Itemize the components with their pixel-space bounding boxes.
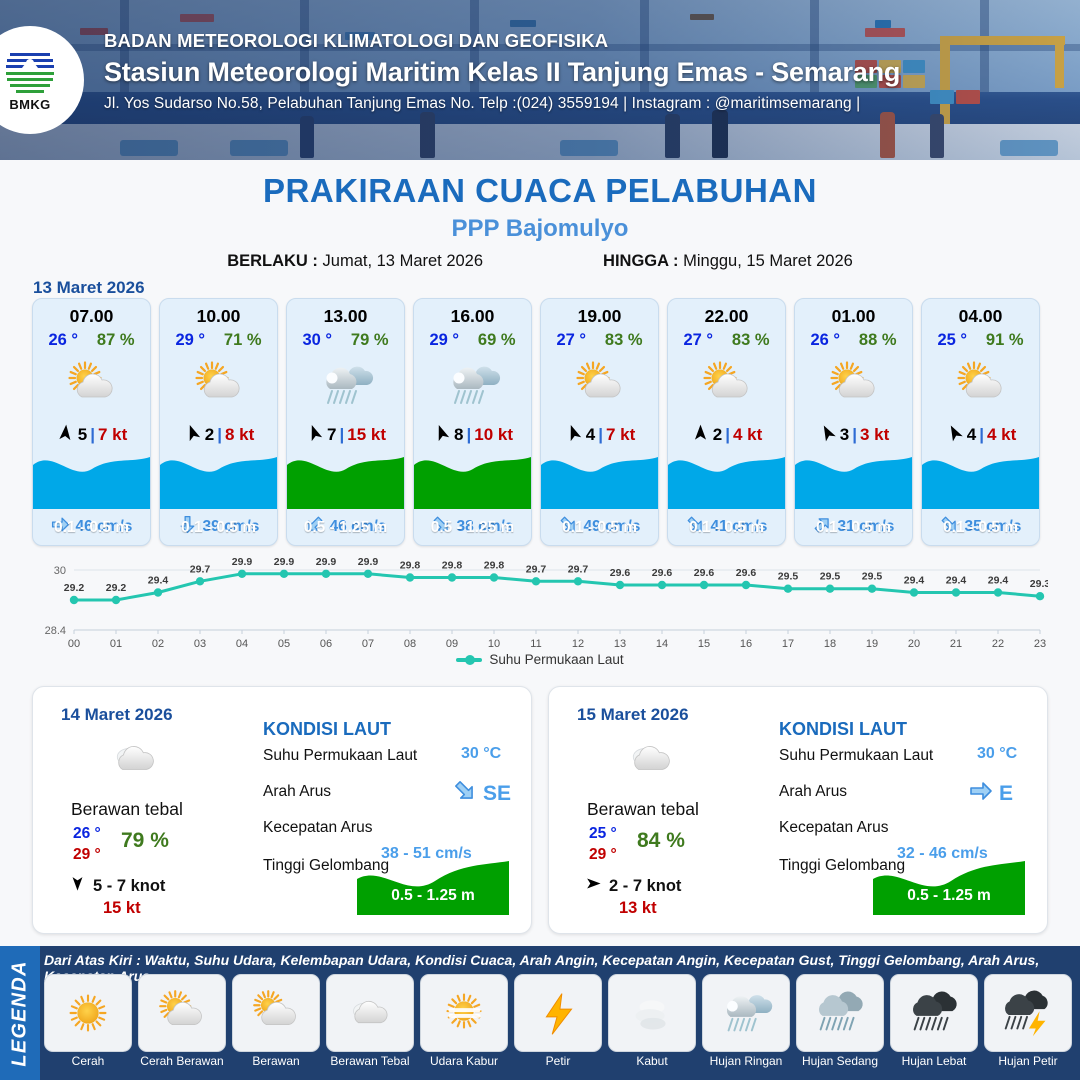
card-wind-gust: 8 kt <box>225 425 254 445</box>
bmkg-logo-icon <box>4 48 56 96</box>
berawan-tebal-icon <box>326 974 414 1052</box>
svg-text:29.4: 29.4 <box>148 575 169 587</box>
card-wave <box>541 447 658 509</box>
day-wind-range: 2 - 7 knot <box>609 877 681 896</box>
cerah-berawan-icon <box>922 355 1039 415</box>
wind-direction-arrow-icon <box>564 423 583 447</box>
card-wave <box>33 447 150 509</box>
legend-item-list: Cerah Cerah Berawan Berawan Berawan Teba… <box>44 974 1076 1078</box>
card-wind-gust: 7 kt <box>98 425 127 445</box>
card-wave <box>160 447 277 509</box>
svg-text:29.8: 29.8 <box>484 560 505 572</box>
card-temp-humidity: 26 °88 % <box>795 331 912 350</box>
svg-text:29.4: 29.4 <box>904 575 925 587</box>
svg-text:29.6: 29.6 <box>610 567 631 579</box>
card-temperature: 29 ° <box>175 331 205 350</box>
svg-text:29.5: 29.5 <box>820 571 841 583</box>
svg-text:29.4: 29.4 <box>946 575 967 587</box>
svg-text:10: 10 <box>488 638 500 650</box>
card-temp-humidity: 29 °71 % <box>160 331 277 350</box>
valid-from-value: Jumat, 13 Maret 2026 <box>323 252 484 270</box>
contact-line: Jl. Yos Sudarso No.58, Pelabuhan Tanjung… <box>104 95 1064 113</box>
card-wind: 3|3 kt <box>795 423 912 447</box>
day-humidity: 84 % <box>637 829 685 853</box>
card-wind-direction: 2 <box>205 425 214 445</box>
wind-separator: | <box>466 425 471 445</box>
legend-footer: LEGENDA Dari Atas Kiri : Waktu, Suhu Uda… <box>0 946 1080 1080</box>
wind-direction-arrow-icon <box>818 423 837 447</box>
valid-to-label: HINGGA : <box>603 252 678 270</box>
wind-separator: | <box>725 425 730 445</box>
svg-text:20: 20 <box>908 638 920 650</box>
day-temp-min: 25 ° <box>589 825 617 843</box>
card-temperature: 26 ° <box>48 331 78 350</box>
value-wave-box: 0.5 - 1.25 m <box>357 859 509 915</box>
card-temperature: 29 ° <box>429 331 459 350</box>
card-humidity: 88 % <box>859 331 897 350</box>
legend-item: Hujan Lebat <box>890 974 978 1078</box>
wind-direction-arrow-icon <box>585 875 602 897</box>
value-wave-box: 0.5 - 1.25 m <box>873 859 1025 915</box>
day-wind-range: 5 - 7 knot <box>93 877 165 896</box>
card-time: 10.00 <box>160 306 277 327</box>
card-temperature: 25 ° <box>937 331 967 350</box>
current-direction-arrow-icon <box>453 779 477 808</box>
value-wave-height: 0.5 - 1.25 m <box>873 887 1025 905</box>
day-gust: 15 kt <box>103 899 141 918</box>
wind-separator: | <box>90 425 95 445</box>
card-temp-humidity: 30 °79 % <box>287 331 404 350</box>
wind-direction-arrow-icon <box>56 423 75 447</box>
card-wind-direction: 8 <box>454 425 463 445</box>
daily-summary-panel[interactable]: 14 Maret 2026 Berawan tebal26 °29 °79 %5… <box>32 686 532 934</box>
svg-text:19: 19 <box>866 638 878 650</box>
card-wind: 4|4 kt <box>922 423 1039 447</box>
bmkg-logo-text: BMKG <box>9 97 50 112</box>
svg-text:09: 09 <box>446 638 458 650</box>
svg-text:11: 11 <box>530 638 541 650</box>
page-header: BMKG BADAN METEOROLOGI KLIMATOLOGI DAN G… <box>0 0 1080 160</box>
day-temp-min: 26 ° <box>73 825 101 843</box>
card-wind: 4|7 kt <box>541 423 658 447</box>
svg-text:29.8: 29.8 <box>400 560 421 572</box>
svg-text:29.7: 29.7 <box>526 563 547 575</box>
value-current-dir: SE <box>453 779 511 808</box>
wind-direction-arrow-icon <box>432 423 451 447</box>
card-wave-height: 0.1 - 0.5 m <box>33 519 150 537</box>
svg-text:16: 16 <box>740 638 752 650</box>
value-sst: 30 °C <box>977 745 1017 763</box>
card-wave <box>922 447 1039 509</box>
hujan-sedang-icon <box>796 974 884 1052</box>
day-wind: 5 - 7 knot <box>69 875 165 897</box>
validity-row: BERLAKU : Jumat, 13 Maret 2026 HINGGA : … <box>0 252 1080 271</box>
card-wind-gust: 4 kt <box>987 425 1016 445</box>
card-wind-gust: 7 kt <box>606 425 635 445</box>
day-condition: Berawan tebal <box>587 799 699 820</box>
card-humidity: 91 % <box>986 331 1024 350</box>
card-wave-height: 0.1 - 0.5 m <box>541 519 658 537</box>
valid-to: HINGGA : Minggu, 15 Maret 2026 <box>603 252 853 271</box>
card-temp-humidity: 26 °87 % <box>33 331 150 350</box>
legend-item-label: Cerah <box>44 1054 132 1068</box>
forecast-date-label: 13 Maret 2026 <box>33 278 145 298</box>
card-wave-height: 0.1 - 0.5 m <box>922 519 1039 537</box>
sst-chart: 3028.429.20029.20129.40229.70329.90429.9… <box>32 552 1048 684</box>
hujan-ringan-icon <box>414 355 531 415</box>
svg-text:29.9: 29.9 <box>358 556 379 568</box>
wind-separator: | <box>217 425 222 445</box>
svg-text:29.6: 29.6 <box>694 567 715 579</box>
card-time: 01.00 <box>795 306 912 327</box>
card-time: 13.00 <box>287 306 404 327</box>
svg-text:29.5: 29.5 <box>862 571 883 583</box>
station-name: Stasiun Meteorologi Maritim Kelas II Tan… <box>104 57 1064 88</box>
forecast-card[interactable]: 13.0030 °79 % 7|15 kt0.5 - 1.25 m46 cm/s <box>286 298 405 546</box>
wind-separator: | <box>852 425 857 445</box>
legend-item-label: Berawan <box>232 1054 320 1068</box>
day-wind: 2 - 7 knot <box>585 875 681 897</box>
svg-text:04: 04 <box>236 638 248 650</box>
header-text-block: BADAN METEOROLOGI KLIMATOLOGI DAN GEOFIS… <box>104 30 1064 113</box>
card-temp-humidity: 25 °91 % <box>922 331 1039 350</box>
svg-text:13: 13 <box>614 638 626 650</box>
forecast-card-list: 07.0026 °87 % 5|7 kt0.1 - 0.5 m46 cm/s10… <box>32 298 1048 546</box>
udara-kabur-icon <box>420 974 508 1052</box>
legend-item: Hujan Petir <box>984 974 1072 1078</box>
day-temp-max: 29 ° <box>589 846 617 864</box>
kabut-icon <box>608 974 696 1052</box>
card-wind-direction: 2 <box>713 425 722 445</box>
card-wind: 7|15 kt <box>287 423 404 447</box>
card-wave-height: 0.1 - 0.5 m <box>795 519 912 537</box>
card-temp-humidity: 27 °83 % <box>541 331 658 350</box>
svg-text:28.4: 28.4 <box>45 625 66 637</box>
page-title: PRAKIRAAN CUACA PELABUHAN <box>0 172 1080 210</box>
card-wind: 2|8 kt <box>160 423 277 447</box>
hujan-ringan-icon <box>702 974 790 1052</box>
legend-item-label: Berawan Tebal <box>326 1054 414 1068</box>
legend-item: Petir <box>514 974 602 1078</box>
forecast-card[interactable]: 16.0029 °69 % 8|10 kt0.5 - 1.25 m38 cm/s <box>413 298 532 546</box>
row-label-sst: Suhu Permukaan Laut <box>779 747 933 765</box>
row-label-sst: Suhu Permukaan Laut <box>263 747 417 765</box>
chart-legend: Suhu Permukaan Laut <box>32 652 1048 667</box>
day-humidity: 79 % <box>121 829 169 853</box>
card-wave-height: 0.1 - 0.5 m <box>668 519 785 537</box>
legend-item: Berawan Tebal <box>326 974 414 1078</box>
hujan-lebat-icon <box>890 974 978 1052</box>
cerah-berawan-icon <box>541 355 658 415</box>
svg-text:29.9: 29.9 <box>232 556 253 568</box>
svg-text:02: 02 <box>152 638 164 650</box>
card-time: 04.00 <box>922 306 1039 327</box>
day-temp-max: 29 ° <box>73 846 101 864</box>
sea-condition-title: KONDISI LAUT <box>263 719 391 740</box>
svg-text:29.9: 29.9 <box>274 556 295 568</box>
svg-text:29.8: 29.8 <box>442 560 463 572</box>
card-wind-direction: 4 <box>586 425 595 445</box>
cerah-berawan-icon <box>160 355 277 415</box>
svg-text:29.3: 29.3 <box>1030 578 1048 590</box>
card-wave <box>795 447 912 509</box>
svg-text:18: 18 <box>824 638 836 650</box>
svg-text:17: 17 <box>782 638 794 650</box>
cerah-berawan-icon <box>138 974 226 1052</box>
card-humidity: 83 % <box>732 331 770 350</box>
card-wind-gust: 3 kt <box>860 425 889 445</box>
svg-text:08: 08 <box>404 638 416 650</box>
row-label-current-dir: Arah Arus <box>263 783 331 801</box>
chart-legend-label: Suhu Permukaan Laut <box>489 652 623 667</box>
forecast-card[interactable]: 01.0026 °88 % 3|3 kt0.1 - 0.5 m31 cm/s <box>794 298 913 546</box>
svg-text:29.7: 29.7 <box>190 563 211 575</box>
svg-text:15: 15 <box>698 638 710 650</box>
card-wind-gust: 4 kt <box>733 425 762 445</box>
card-humidity: 87 % <box>97 331 135 350</box>
card-temperature: 27 ° <box>683 331 713 350</box>
berawan-tebal-icon <box>95 733 175 785</box>
card-time: 16.00 <box>414 306 531 327</box>
legend-item-label: Cerah Berawan <box>138 1054 226 1068</box>
legend-item: Cerah Berawan <box>138 974 226 1078</box>
legend-item-label: Kabut <box>608 1054 696 1068</box>
current-direction-arrow-icon <box>969 779 993 808</box>
day-condition: Berawan tebal <box>71 799 183 820</box>
svg-text:00: 00 <box>68 638 80 650</box>
row-label-current-speed: Kecepatan Arus <box>263 819 372 837</box>
cerah-icon <box>44 974 132 1052</box>
daily-summary-list: 14 Maret 2026 Berawan tebal26 °29 °79 %5… <box>32 686 1048 934</box>
svg-text:22: 22 <box>992 638 1004 650</box>
sst-chart-svg: 3028.429.20029.20129.40229.70329.90429.9… <box>32 552 1048 652</box>
card-temperature: 30 ° <box>302 331 332 350</box>
legend-item: Kabut <box>608 974 696 1078</box>
svg-text:29.6: 29.6 <box>736 567 757 579</box>
card-wind-gust: 15 kt <box>347 425 386 445</box>
berawan-tebal-icon <box>611 733 691 785</box>
forecast-card[interactable]: 22.0027 °83 % 2|4 kt0.1 - 0.5 m41 cm/s <box>667 298 786 546</box>
legend-strip-label: LEGENDA <box>9 960 32 1066</box>
legend-item-label: Hujan Sedang <box>796 1054 884 1068</box>
card-wind-direction: 7 <box>327 425 336 445</box>
legend-item: Udara Kabur <box>420 974 508 1078</box>
legend-item-label: Hujan Petir <box>984 1054 1072 1068</box>
value-wave-height: 0.5 - 1.25 m <box>357 887 509 905</box>
card-wave <box>287 447 404 509</box>
svg-text:29.9: 29.9 <box>316 556 337 568</box>
card-wave <box>414 447 531 509</box>
svg-text:07: 07 <box>362 638 374 650</box>
card-humidity: 79 % <box>351 331 389 350</box>
card-wave <box>668 447 785 509</box>
forecast-card[interactable]: 04.0025 °91 % 4|4 kt0.1 - 0.5 m35 cm/s <box>921 298 1040 546</box>
hujan-petir-icon <box>984 974 1072 1052</box>
forecast-card[interactable]: 19.0027 °83 % 4|7 kt0.1 - 0.5 m49 cm/s <box>540 298 659 546</box>
svg-text:29.2: 29.2 <box>64 582 85 594</box>
card-humidity: 83 % <box>605 331 643 350</box>
value-current-dir: E <box>969 779 1013 808</box>
day-gust: 13 kt <box>619 899 657 918</box>
svg-text:29.5: 29.5 <box>778 571 799 583</box>
berawan-icon <box>232 974 320 1052</box>
valid-from-label: BERLAKU : <box>227 252 318 270</box>
svg-text:23: 23 <box>1034 638 1046 650</box>
agency-name: BADAN METEOROLOGI KLIMATOLOGI DAN GEOFIS… <box>104 30 1064 52</box>
valid-to-value: Minggu, 15 Maret 2026 <box>683 252 853 270</box>
legend-item: Hujan Sedang <box>796 974 884 1078</box>
daily-summary-panel[interactable]: 15 Maret 2026 Berawan tebal25 °29 °84 %2… <box>548 686 1048 934</box>
forecast-card[interactable]: 07.0026 °87 % 5|7 kt0.1 - 0.5 m46 cm/s <box>32 298 151 546</box>
svg-text:14: 14 <box>656 638 668 650</box>
legend-marker-icon <box>456 658 482 662</box>
cerah-berawan-icon <box>795 355 912 415</box>
card-wave-height: 0.5 - 1.25 m <box>287 519 404 537</box>
wind-separator: | <box>339 425 344 445</box>
legend-strip: LEGENDA <box>0 946 40 1080</box>
card-wave-height: 0.1 - 0.5 m <box>160 519 277 537</box>
card-time: 07.00 <box>33 306 150 327</box>
card-wind-gust: 10 kt <box>474 425 513 445</box>
legend-item: Hujan Ringan <box>702 974 790 1078</box>
card-humidity: 71 % <box>224 331 262 350</box>
card-wind: 8|10 kt <box>414 423 531 447</box>
svg-text:12: 12 <box>572 638 584 650</box>
svg-text:29.2: 29.2 <box>106 582 127 594</box>
forecast-card[interactable]: 10.0029 °71 % 2|8 kt0.1 - 0.5 m39 cm/s <box>159 298 278 546</box>
card-time: 22.00 <box>668 306 785 327</box>
cerah-berawan-icon <box>668 355 785 415</box>
wind-separator: | <box>979 425 984 445</box>
page-subtitle: PPP Bajomulyo <box>0 215 1080 243</box>
current-dir-text: E <box>999 782 1013 806</box>
row-label-current-speed: Kecepatan Arus <box>779 819 888 837</box>
wind-direction-arrow-icon <box>305 423 324 447</box>
svg-text:05: 05 <box>278 638 290 650</box>
svg-text:29.4: 29.4 <box>988 575 1009 587</box>
sea-condition-title: KONDISI LAUT <box>779 719 907 740</box>
hujan-ringan-icon <box>287 355 404 415</box>
card-humidity: 69 % <box>478 331 516 350</box>
svg-text:29.7: 29.7 <box>568 563 589 575</box>
card-wave-height: 0.5 - 1.25 m <box>414 519 531 537</box>
card-temperature: 27 ° <box>556 331 586 350</box>
svg-text:29.6: 29.6 <box>652 567 673 579</box>
card-wind-direction: 3 <box>840 425 849 445</box>
value-sst: 30 °C <box>461 745 501 763</box>
card-time: 19.00 <box>541 306 658 327</box>
wind-direction-arrow-icon <box>691 423 710 447</box>
svg-text:06: 06 <box>320 638 332 650</box>
legend-item-label: Udara Kabur <box>420 1054 508 1068</box>
card-wind: 2|4 kt <box>668 423 785 447</box>
svg-text:03: 03 <box>194 638 206 650</box>
legend-item-label: Hujan Lebat <box>890 1054 978 1068</box>
legend-item-label: Petir <box>514 1054 602 1068</box>
valid-from: BERLAKU : Jumat, 13 Maret 2026 <box>227 252 483 271</box>
day-date: 15 Maret 2026 <box>577 705 689 725</box>
card-wind-direction: 5 <box>78 425 87 445</box>
wind-direction-arrow-icon <box>69 875 86 897</box>
petir-icon <box>514 974 602 1052</box>
card-wind-direction: 4 <box>967 425 976 445</box>
wind-separator: | <box>598 425 603 445</box>
card-temperature: 26 ° <box>810 331 840 350</box>
card-wind: 5|7 kt <box>33 423 150 447</box>
legend-item-label: Hujan Ringan <box>702 1054 790 1068</box>
wind-direction-arrow-icon <box>183 423 202 447</box>
row-label-current-dir: Arah Arus <box>779 783 847 801</box>
wind-direction-arrow-icon <box>945 423 964 447</box>
day-date: 14 Maret 2026 <box>61 705 173 725</box>
svg-text:21: 21 <box>950 638 962 650</box>
svg-text:30: 30 <box>54 565 66 577</box>
current-dir-text: SE <box>483 782 511 806</box>
svg-text:01: 01 <box>110 638 122 650</box>
legend-item: Berawan <box>232 974 320 1078</box>
cerah-berawan-icon <box>33 355 150 415</box>
legend-item: Cerah <box>44 974 132 1078</box>
card-temp-humidity: 29 °69 % <box>414 331 531 350</box>
card-temp-humidity: 27 °83 % <box>668 331 785 350</box>
